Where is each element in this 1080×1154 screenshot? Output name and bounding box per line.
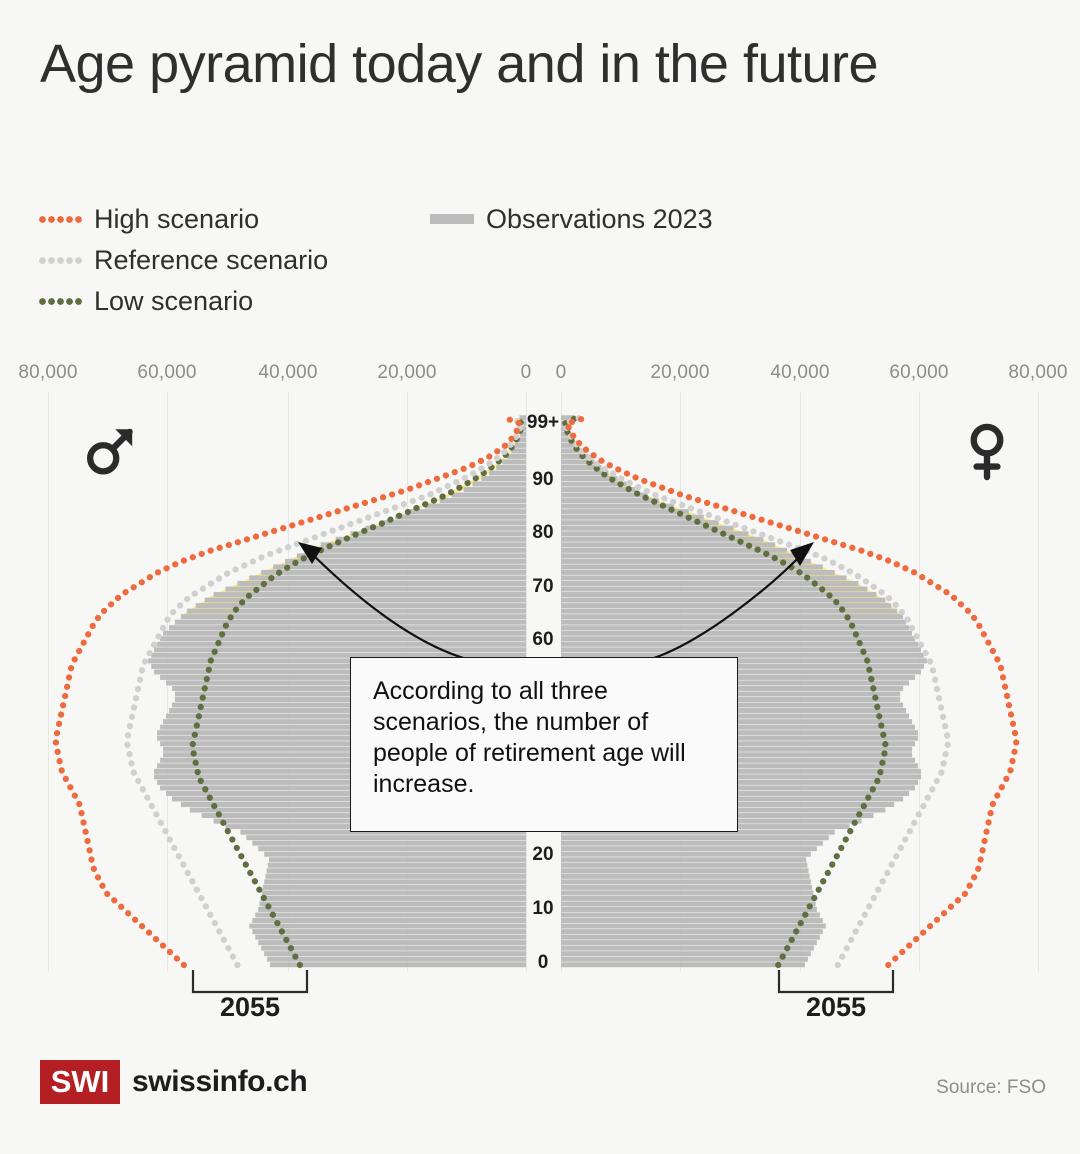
x-tick-left-20000: 20,000 (377, 362, 436, 384)
age-bar (255, 935, 526, 940)
age-bar (163, 631, 526, 636)
male-symbol-icon (80, 423, 138, 481)
age-bar (264, 951, 526, 956)
chart-legend: High scenario Reference scenario Low sce… (38, 200, 998, 320)
age-bar (237, 581, 526, 586)
age-bar (561, 901, 816, 906)
swissinfo-wordmark: swissinfo.ch (132, 1065, 307, 1099)
age-bar (561, 874, 810, 879)
age-bar (561, 907, 817, 912)
age-bar (561, 929, 823, 934)
age-bar (561, 946, 814, 951)
age-bar (196, 603, 526, 608)
age-bar (258, 907, 526, 912)
bracket-label-male-2055: 2055 (220, 992, 280, 1023)
age-bar (561, 857, 806, 862)
age-bar (410, 509, 526, 514)
age-bar (452, 493, 526, 498)
age-bar (261, 896, 526, 901)
age-bar (561, 609, 897, 614)
age-bar (226, 587, 526, 592)
legend-item-reference-scenario[interactable]: Reference scenario (38, 245, 328, 275)
age-bar (273, 564, 526, 569)
age-bar (214, 592, 526, 597)
age-bar (267, 957, 526, 962)
y-tick-60: 60 (519, 629, 567, 651)
legend-item-low-scenario[interactable]: Low scenario (38, 286, 253, 316)
age-bar (561, 957, 808, 962)
age-bar (561, 835, 829, 840)
legend-label: Observations 2023 (486, 204, 713, 234)
age-bar (561, 631, 912, 636)
age-bar (169, 625, 526, 630)
bracket-female (779, 970, 893, 992)
age-bar (365, 526, 526, 531)
x-tick-left-40000: 40,000 (258, 362, 317, 384)
age-bar (561, 482, 626, 487)
age-bar (269, 857, 526, 862)
age-bar (380, 520, 526, 525)
age-bar (255, 913, 526, 918)
age-bar (249, 575, 526, 580)
age-bar (561, 575, 847, 580)
age-bar (267, 868, 526, 873)
age-bar (561, 841, 823, 846)
y-tick-20: 20 (519, 844, 567, 866)
age-bar (264, 879, 526, 884)
age-bar (561, 476, 618, 481)
age-bar (259, 901, 526, 906)
age-bar (561, 642, 918, 647)
y-tick-70: 70 (519, 576, 567, 598)
bracket-group (0, 962, 1080, 1012)
x-axis: 80,000 60,000 40,000 20,000 0 0 20,000 4… (0, 362, 1080, 386)
age-bar (252, 841, 526, 846)
high-scenario-line-swatch (38, 215, 82, 224)
age-bar (252, 929, 526, 934)
y-tick-99plus: 99+ (519, 412, 567, 434)
age-bar (249, 924, 526, 929)
age-bar (561, 890, 813, 895)
age-bar (262, 890, 526, 895)
x-tick-left-60000: 60,000 (137, 362, 196, 384)
age-bar (258, 940, 526, 945)
x-tick-left-0: 0 (521, 362, 532, 384)
age-bar (464, 487, 526, 492)
legend-label: Low scenario (94, 286, 253, 316)
age-bar (160, 636, 526, 641)
x-tick-right-20000: 20,000 (650, 362, 709, 384)
age-bar (157, 642, 526, 647)
age-bar (561, 885, 812, 890)
age-bar (336, 537, 526, 542)
y-tick-80: 80 (519, 522, 567, 544)
age-bar (561, 570, 835, 575)
age-bar (264, 852, 526, 857)
x-tick-right-40000: 40,000 (770, 362, 829, 384)
reference-scenario-line-swatch (38, 256, 82, 265)
age-bar (309, 548, 526, 553)
swi-logo-mark: SWI (40, 1060, 120, 1104)
x-tick-right-80000: 80,000 (1008, 362, 1067, 384)
age-bar (261, 570, 526, 575)
age-bar (561, 846, 817, 851)
age-bar (246, 835, 526, 840)
age-bar (263, 885, 526, 890)
age-bar (561, 647, 921, 652)
age-bar (261, 946, 526, 951)
age-bar (561, 636, 915, 641)
age-bar (268, 863, 526, 868)
y-tick-90: 90 (519, 469, 567, 491)
age-bar (350, 531, 526, 536)
age-bar (440, 498, 526, 503)
age-bar (561, 852, 811, 857)
age-bar (321, 542, 526, 547)
bracket-label-female-2055: 2055 (806, 992, 866, 1023)
age-bar (561, 924, 826, 929)
y-tick-10: 10 (519, 898, 567, 920)
age-bar (561, 918, 823, 923)
source-note: Source: FSO (936, 1077, 1046, 1099)
age-bar (561, 935, 820, 940)
x-tick-right-0: 0 (556, 362, 567, 384)
age-bar (561, 896, 814, 901)
age-bar (561, 879, 811, 884)
age-bar (561, 913, 820, 918)
age-bar (472, 482, 526, 487)
age-bar (561, 863, 807, 868)
legend-label: Reference scenario (94, 245, 328, 275)
legend-item-observations-2023[interactable]: Observations 2023 (430, 204, 713, 234)
age-bar (561, 504, 674, 509)
female-symbol-icon (961, 420, 1013, 482)
age-bar (561, 868, 809, 873)
age-bar (561, 548, 787, 553)
age-bar (561, 487, 635, 492)
legend-label: High scenario (94, 204, 259, 234)
age-bar (297, 553, 526, 558)
bracket-male (193, 970, 307, 992)
age-bar (395, 515, 526, 520)
low-scenario-line-swatch (38, 297, 82, 306)
legend-item-high-scenario[interactable]: High scenario (38, 204, 259, 234)
observations-bar-swatch (430, 214, 474, 224)
age-bar (252, 918, 526, 923)
x-tick-right-60000: 60,000 (889, 362, 948, 384)
age-bar (258, 846, 526, 851)
annotation-callout: According to all three scenarios, the nu… (350, 657, 738, 832)
age-bar (561, 940, 817, 945)
age-bar (561, 625, 909, 630)
age-bar (561, 951, 811, 956)
chart-title: Age pyramid today and in the future (40, 34, 1000, 94)
age-bar (154, 647, 526, 652)
age-bar (425, 504, 526, 509)
age-bar (265, 874, 526, 879)
annotation-text: According to all three scenarios, the nu… (373, 676, 717, 800)
x-tick-left-80000: 80,000 (18, 362, 77, 384)
